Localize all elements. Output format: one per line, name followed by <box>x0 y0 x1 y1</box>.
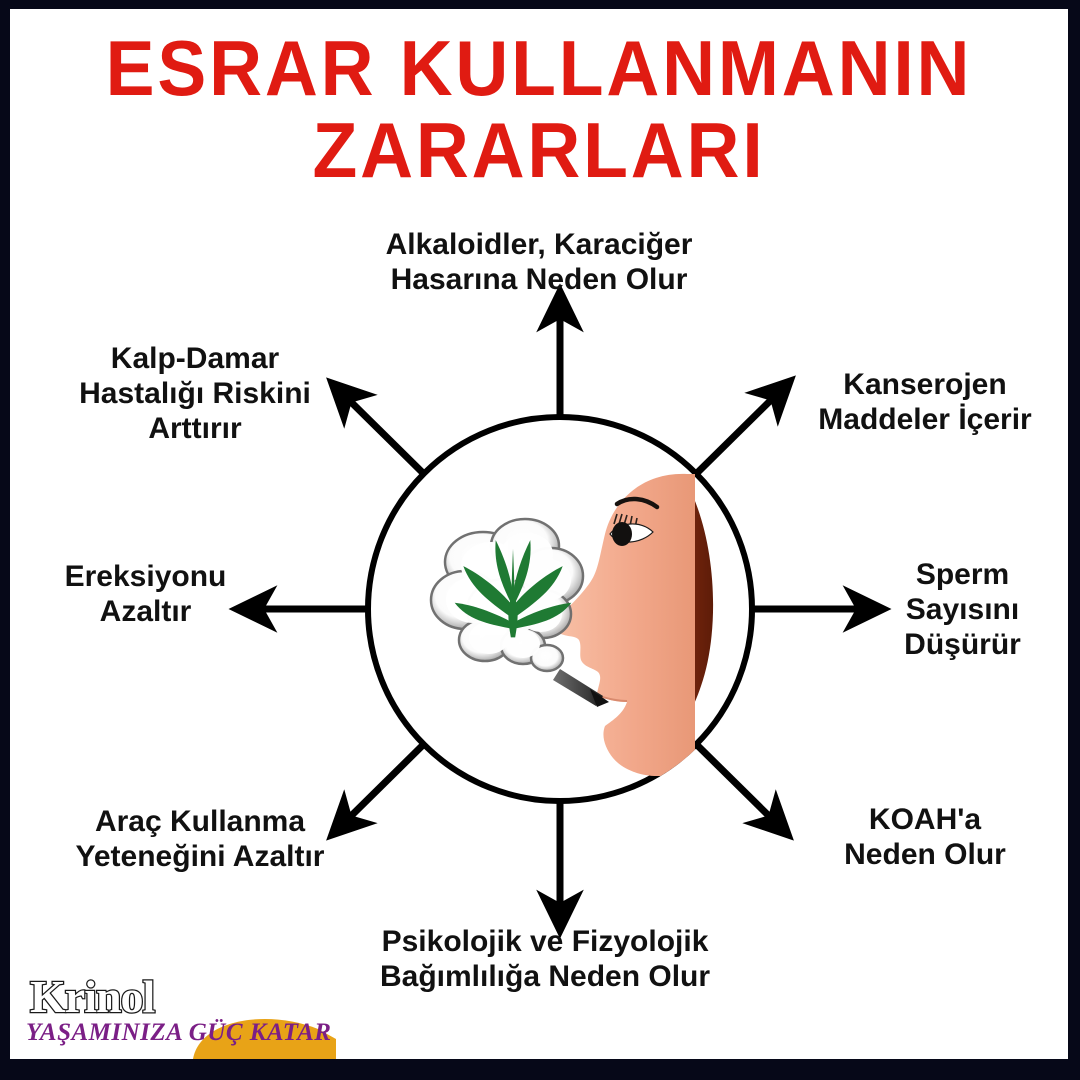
label-top: Alkaloidler, Karaciğer Hasarına Neden Ol… <box>309 227 769 297</box>
label-right: Sperm Sayısını Düşürür <box>865 557 1060 662</box>
pupil <box>612 522 632 546</box>
poster-root: ESRAR KULLANMANIN ZARARLARI <box>0 0 1080 1080</box>
center-hub <box>365 414 755 804</box>
poster-canvas: ESRAR KULLANMANIN ZARARLARI <box>10 9 1068 1059</box>
label-left: Ereksiyonu Azaltır <box>28 559 263 629</box>
label-down-left: Araç Kullanma Yeteneğini Azaltır <box>35 804 365 874</box>
face-profile <box>554 474 695 776</box>
label-up-right: Kanserojen Maddeler İçerir <box>780 367 1068 437</box>
title-line-2: ZARARLARI <box>42 109 1037 191</box>
label-bottom: Psikolojik ve Fizyolojik Bağımlılığa Ned… <box>325 924 765 994</box>
label-up-left: Kalp-Damar Hastalığı Riskini Arttırır <box>30 341 360 446</box>
logo-tagline: YAŞAMINIZA GÜÇ KATAR <box>26 1019 331 1047</box>
page-title: ESRAR KULLANMANIN ZARARLARI <box>10 27 1068 191</box>
label-down-right: KOAH'a Neden Olur <box>800 802 1050 872</box>
title-line-1: ESRAR KULLANMANIN <box>42 27 1037 109</box>
smoking-man-illustration <box>365 414 755 804</box>
logo-wordmark: Krinol <box>30 973 154 1021</box>
brand-logo: Krinol YAŞAMINIZA GÜÇ KATAR <box>18 973 338 1059</box>
